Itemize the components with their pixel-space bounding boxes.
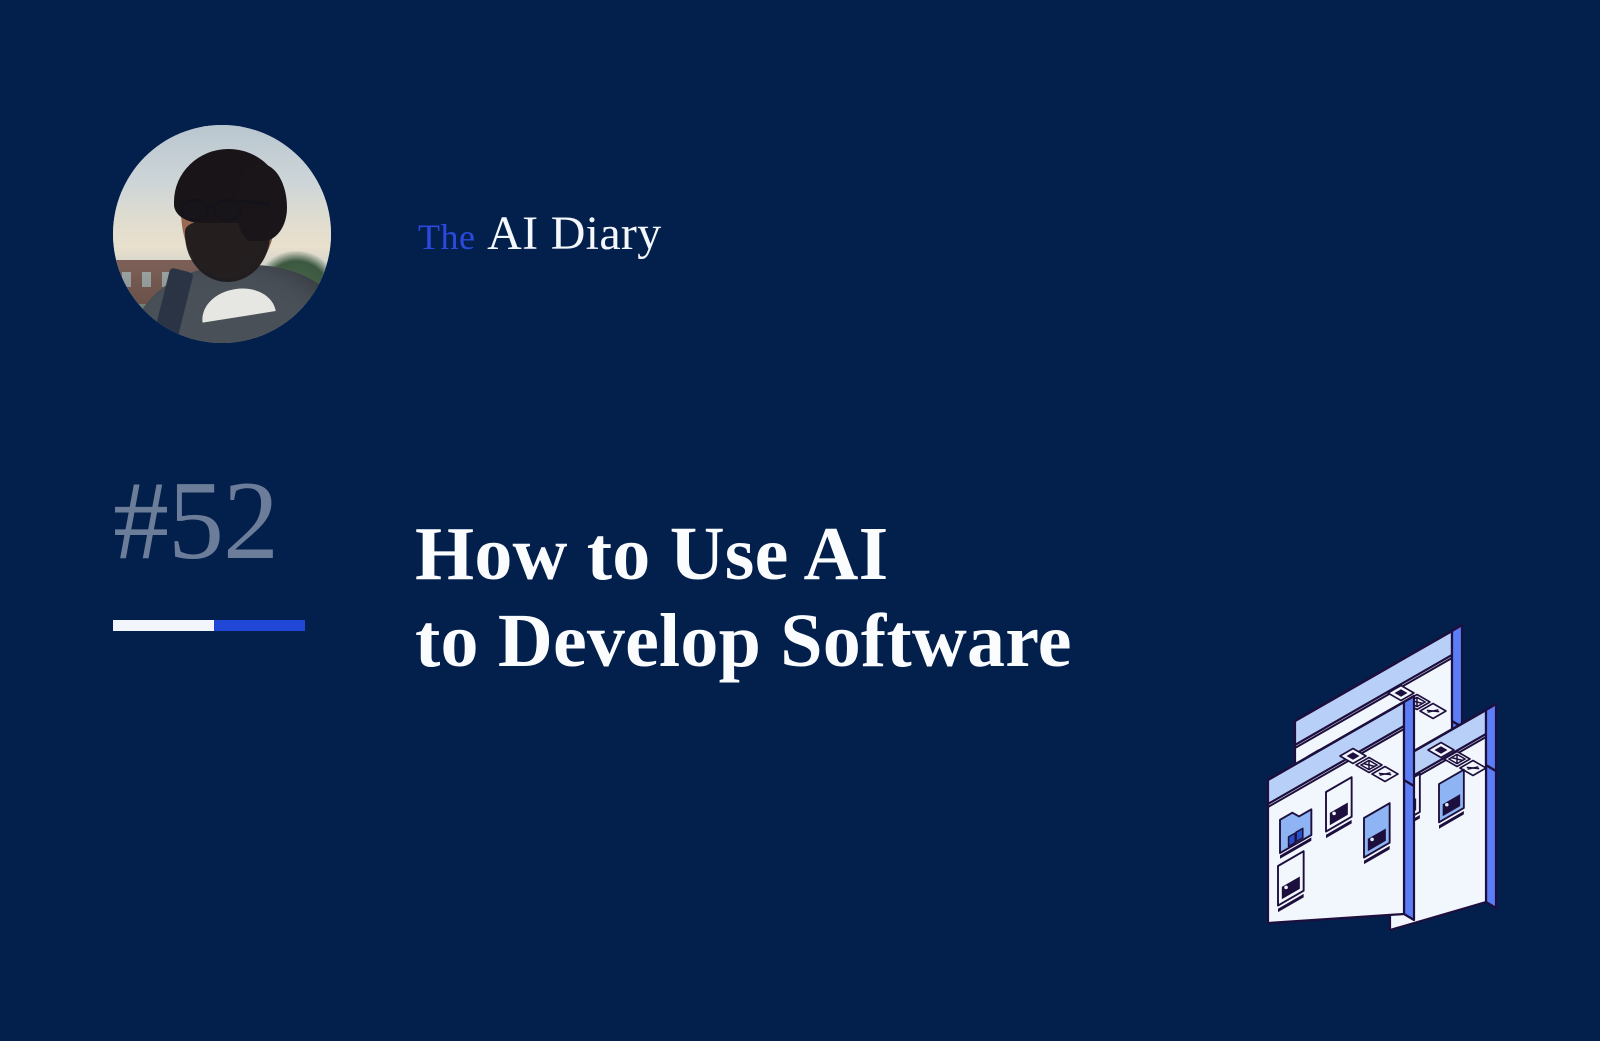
avatar (113, 125, 331, 343)
page-title-line-1: How to Use AI (415, 511, 1215, 598)
issue-block: #52 (113, 463, 305, 581)
accent-rule-blue-segment (214, 620, 305, 631)
brand-header: The AI Diary (113, 125, 662, 343)
isometric-windows-svg (1240, 598, 1520, 938)
brand-prefix: The (418, 217, 475, 257)
newsletter-cover: The AI Diary #52 How to Use AI to Develo… (0, 0, 1600, 1041)
brand-wordmark: The AI Diary (418, 210, 662, 258)
avatar-glasses-left-lens (181, 199, 209, 221)
accent-rule (113, 620, 305, 631)
page-title: How to Use AI to Develop Software (415, 511, 1215, 686)
issue-number: #52 (113, 463, 305, 581)
accent-rule-white-segment (113, 620, 214, 631)
avatar-glasses-right-lens (213, 199, 241, 221)
brand-name: AI Diary (487, 207, 661, 260)
page-title-line-2: to Develop Software (415, 598, 1215, 685)
avatar-photo (113, 125, 331, 343)
isometric-file-browser-illustration (1240, 598, 1520, 938)
avatar-glasses-bridge (207, 206, 216, 209)
